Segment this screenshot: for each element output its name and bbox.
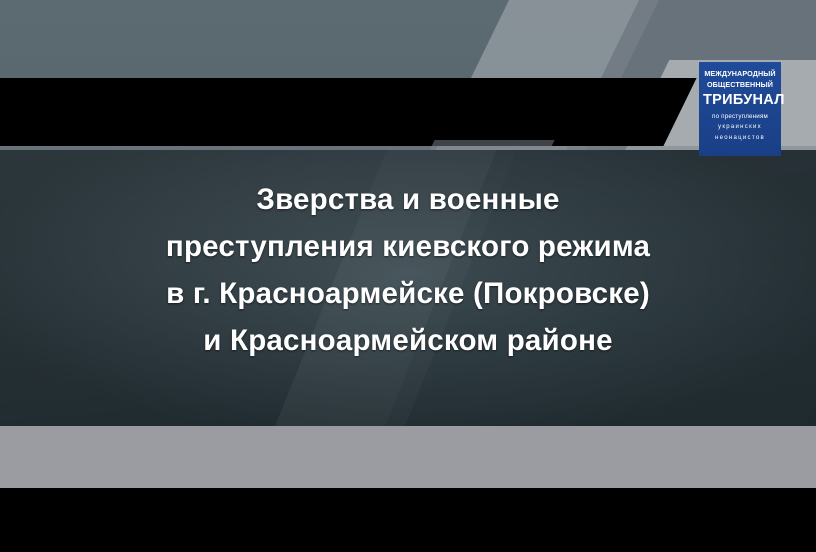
title-line-4: и Красноармейском районе xyxy=(0,317,816,364)
tribunal-logo-line-4: по преступлениям xyxy=(703,111,777,122)
tribunal-logo: МЕЖДУНАРОДНЫЙ ОБЩЕСТВЕННЫЙ ТРИБУНАЛ по п… xyxy=(699,62,781,156)
page-title: Зверства и военные преступления киевског… xyxy=(0,176,816,364)
tribunal-logo-line-5: украинских xyxy=(703,122,777,133)
title-line-1: Зверства и военные xyxy=(0,176,816,223)
title-line-2: преступления киевского режима xyxy=(0,223,816,270)
presentation-slide: Зверства и военные преступления киевског… xyxy=(0,0,816,552)
tribunal-logo-line-1: МЕЖДУНАРОДНЫЙ xyxy=(703,68,777,79)
black-banner-bar-skew xyxy=(0,78,697,146)
top-banner xyxy=(0,0,816,150)
title-line-3: в г. Красноармейске (Покровске) xyxy=(0,270,816,317)
tribunal-logo-line-6: неонацистов xyxy=(703,133,777,144)
footer-logo-row: ФОНД ИССЛЕДОВАНИЯ ПРОБЛЕМ ДЕМОКРАТИИ xyxy=(0,426,816,552)
tribunal-logo-line-2: ОБЩЕСТВЕННЫЙ xyxy=(703,79,777,90)
tribunal-logo-line-3: ТРИБУНАЛ xyxy=(703,91,777,109)
